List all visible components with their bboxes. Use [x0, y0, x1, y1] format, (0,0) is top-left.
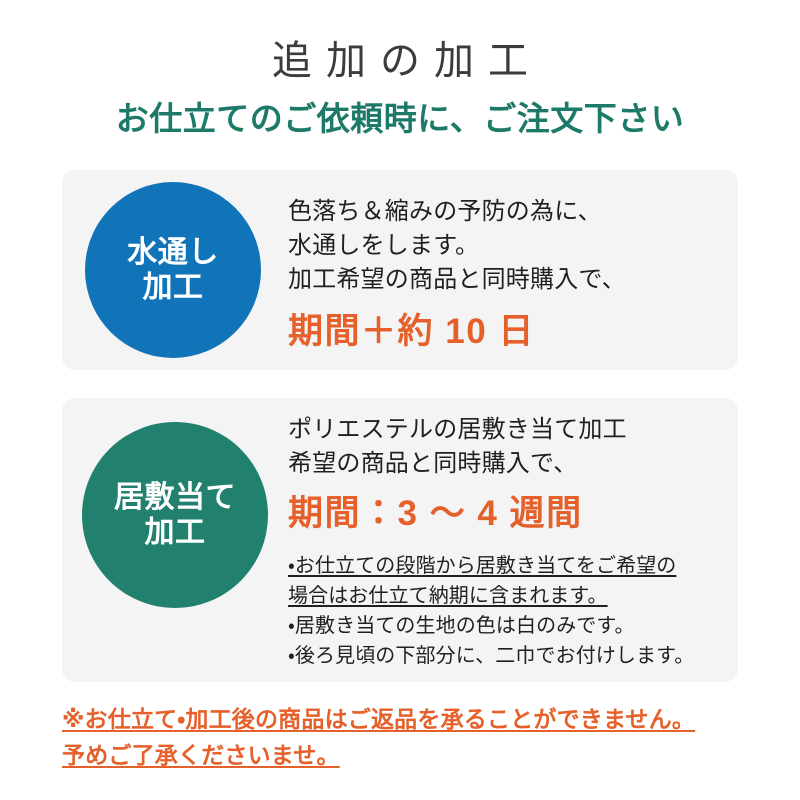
description-mizutoshi: 色落ち＆縮みの予防の為に、 水通しをします。 加工希望の商品と同時購入で、	[288, 170, 726, 297]
footer-warning-line2: 予めご了承くださいませ。	[62, 738, 762, 774]
badge-label-line1: 水通し	[127, 235, 219, 270]
description-ishikiate: ポリエステルの居敷き当て加工 希望の商品と同時購入で、	[288, 398, 726, 481]
page-root: 追加の加工 お仕立てのご依頼時に、ご注文下さい 水通し 加工 色落ち＆縮みの予防…	[0, 0, 800, 800]
badge-label-line2: 加工	[145, 515, 206, 550]
card-mizutoshi: 水通し 加工 色落ち＆縮みの予防の為に、 水通しをします。 加工希望の商品と同時…	[62, 170, 738, 370]
badge-label-line2: 加工	[143, 270, 204, 305]
description-line: 加工希望の商品と同時購入で、	[288, 263, 726, 297]
description-line: 希望の商品と同時購入で、	[288, 447, 726, 481]
footer-warning-line1: ※お仕立て・加工後の商品はご返品を承ることができません。	[62, 702, 762, 738]
card-body-ishikiate: ポリエステルの居敷き当て加工 希望の商品と同時購入で、 期間：3 〜 4 週間 …	[288, 398, 726, 671]
badge-ishikiate: 居敷当て 加工	[82, 422, 268, 608]
description-line: 色落ち＆縮みの予防の為に、	[288, 195, 726, 229]
duration-highlight-mizutoshi: 期間＋約 10 日	[288, 297, 726, 355]
description-line: 水通しをします。	[288, 229, 726, 263]
note-item: 場合はお仕立て納期に含まれます。	[288, 581, 726, 611]
description-line: ポリエステルの居敷き当て加工	[288, 413, 726, 447]
badge-label-line1: 居敷当て	[114, 480, 236, 515]
badge-mizutoshi: 水通し 加工	[85, 182, 261, 358]
note-list-ishikiate: ・お仕立ての段階から居敷き当てをご希望の 場合はお仕立て納期に含まれます。 ・居…	[288, 537, 726, 671]
note-item: ・居敷き当ての生地の色は白のみです。	[288, 611, 726, 641]
card-body-mizutoshi: 色落ち＆縮みの予防の為に、 水通しをします。 加工希望の商品と同時購入で、 期間…	[288, 170, 726, 355]
footer-warning: ※お仕立て・加工後の商品はご返品を承ることができません。 予めご了承くださいませ…	[62, 702, 762, 773]
note-item: ・後ろ見頃の下部分に、二巾でお付けします。	[288, 641, 726, 671]
card-ishikiate: 居敷当て 加工 ポリエステルの居敷き当て加工 希望の商品と同時購入で、 期間：3…	[62, 398, 738, 682]
page-title: 追加の加工	[0, 0, 800, 85]
page-subtitle: お仕立てのご依頼時に、ご注文下さい	[0, 85, 800, 139]
note-item: ・お仕立ての段階から居敷き当てをご希望の	[288, 551, 726, 581]
duration-highlight-ishikiate: 期間：3 〜 4 週間	[288, 481, 726, 537]
